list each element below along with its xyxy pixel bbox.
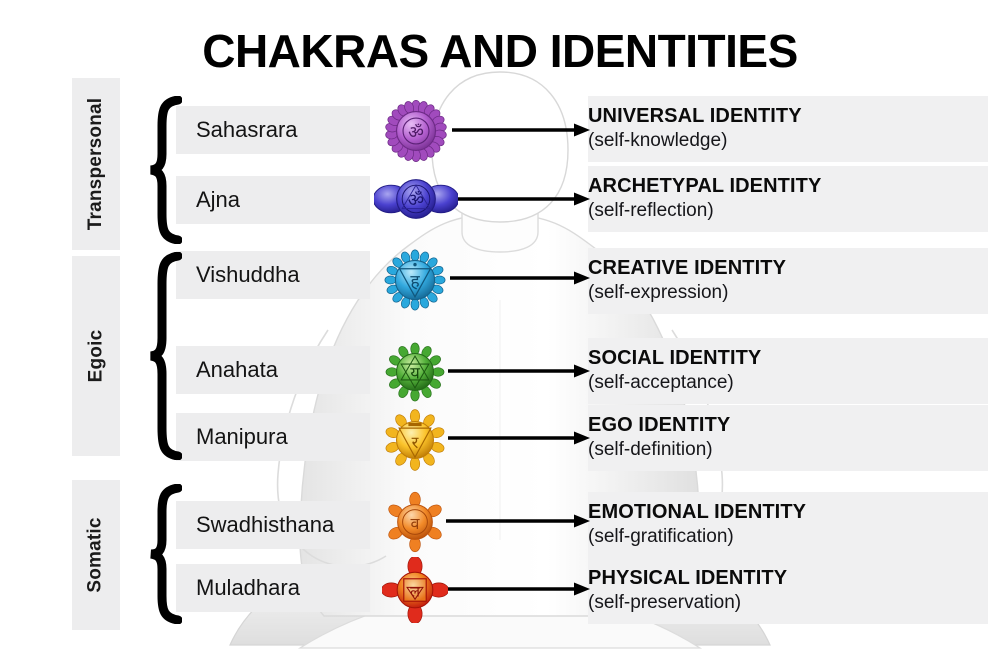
identity-aspect: (self-expression) xyxy=(588,282,988,305)
brace-transpersonal xyxy=(148,96,182,244)
brace-egoic xyxy=(148,252,182,460)
identity-band: CREATIVE IDENTITY (self-expression) xyxy=(588,248,988,314)
svg-text:ल: ल xyxy=(410,585,421,601)
svg-text:ॐ: ॐ xyxy=(408,190,424,211)
chakra-name-label: Swadhisthana xyxy=(176,512,334,538)
identity-band: SOCIAL IDENTITY (self-acceptance) xyxy=(588,338,988,404)
root-chakra-symbol: ल xyxy=(382,557,448,623)
identity-title: CREATIVE IDENTITY xyxy=(588,257,988,279)
throat-chakra-symbol: ह xyxy=(380,245,450,315)
identity-title: ARCHETYPAL IDENTITY xyxy=(588,175,988,197)
group-label-somatic: Somatic xyxy=(72,480,120,630)
chakra-name-label: Sahasrara xyxy=(176,117,298,143)
group-label-text: Egoic xyxy=(85,330,107,383)
brace-somatic xyxy=(148,484,182,624)
connector-arrow xyxy=(448,431,590,445)
identity-band: PHYSICAL IDENTITY (self-preservation) xyxy=(588,558,988,624)
solar-plexus-chakra-symbol: र xyxy=(382,407,448,473)
identity-band: EGO IDENTITY (self-definition) xyxy=(588,405,988,471)
chakra-name-band: Swadhisthana xyxy=(176,501,370,549)
identity-aspect: (self-knowledge) xyxy=(588,130,988,153)
identity-aspect: (self-preservation) xyxy=(588,592,988,615)
connector-arrow xyxy=(450,271,590,285)
chakra-name-label: Vishuddha xyxy=(176,262,300,288)
heart-chakra-symbol: य xyxy=(382,339,448,405)
group-label-transpersonal: Transpersonal xyxy=(72,78,120,250)
connector-arrow xyxy=(446,514,590,528)
connector-arrow xyxy=(452,123,590,137)
identity-band: EMOTIONAL IDENTITY (self-gratification) xyxy=(588,492,988,558)
connector-arrow xyxy=(444,582,590,596)
group-label-text: Somatic xyxy=(85,517,107,592)
chakra-name-band: Ajna xyxy=(176,176,370,224)
identity-title: PHYSICAL IDENTITY xyxy=(588,567,988,589)
page-title: CHAKRAS AND IDENTITIES xyxy=(0,24,1000,78)
chakra-name-band: Vishuddha xyxy=(176,251,370,299)
chakra-name-band: Sahasrara xyxy=(176,106,370,154)
group-label-text: Transpersonal xyxy=(85,98,107,230)
identity-aspect: (self-acceptance) xyxy=(588,372,988,395)
third-eye-chakra-symbol: ॐ xyxy=(374,170,458,228)
chakra-identity-diagram: CHAKRAS AND IDENTITIES Transpersonal Ego… xyxy=(0,0,1000,650)
identity-aspect: (self-reflection) xyxy=(588,200,988,223)
chakra-name-label: Muladhara xyxy=(176,575,300,601)
chakra-name-band: Muladhara xyxy=(176,564,370,612)
chakra-name-band: Manipura xyxy=(176,413,370,461)
connector-arrow xyxy=(448,364,590,378)
connector-arrow xyxy=(443,192,590,206)
identity-band: ARCHETYPAL IDENTITY (self-reflection) xyxy=(588,166,988,232)
svg-text:ह: ह xyxy=(410,272,420,292)
identity-title: SOCIAL IDENTITY xyxy=(588,347,988,369)
identity-band: UNIVERSAL IDENTITY (self-knowledge) xyxy=(588,96,988,162)
chakra-name-label: Ajna xyxy=(176,187,240,213)
identity-title: EGO IDENTITY xyxy=(588,414,988,436)
svg-text:र: र xyxy=(412,433,419,452)
svg-text:य: य xyxy=(410,364,420,383)
chakra-name-label: Anahata xyxy=(176,357,278,383)
sacral-chakra-symbol: व xyxy=(384,491,446,553)
identity-title: EMOTIONAL IDENTITY xyxy=(588,501,988,523)
identity-aspect: (self-definition) xyxy=(588,439,988,462)
identity-title: UNIVERSAL IDENTITY xyxy=(588,105,988,127)
svg-text:व: व xyxy=(411,514,421,533)
svg-text:ॐ: ॐ xyxy=(408,123,424,143)
crown-chakra-symbol: ॐ xyxy=(380,95,452,167)
group-label-egoic: Egoic xyxy=(72,256,120,456)
identity-aspect: (self-gratification) xyxy=(588,526,988,549)
chakra-name-label: Manipura xyxy=(176,424,288,450)
chakra-name-band: Anahata xyxy=(176,346,370,394)
